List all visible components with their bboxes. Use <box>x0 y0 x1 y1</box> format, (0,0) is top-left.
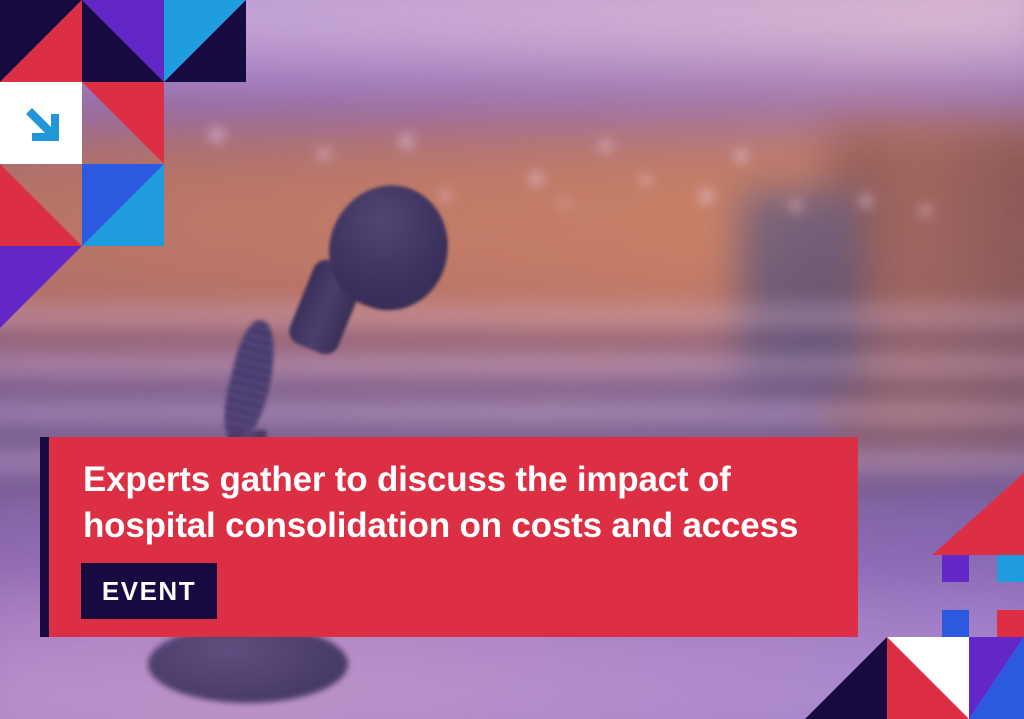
decor-cell-red-corner <box>887 473 1024 555</box>
decor-cell-red-corner <box>82 82 164 164</box>
decor-square-purple <box>942 555 969 582</box>
decor-cell-navy-corner <box>805 637 887 719</box>
status-badge[interactable]: EVENT <box>81 563 217 619</box>
decor-cell-purple-blue <box>969 637 1024 719</box>
triangle-navy <box>805 637 887 719</box>
decor-cell-blue-split <box>82 164 164 246</box>
triangle-red <box>887 473 1024 555</box>
decor-cell-navy-red <box>0 0 82 82</box>
decor-cell-purple-navy <box>82 0 164 82</box>
triangle-purple <box>0 246 82 328</box>
triangle-red <box>0 164 82 246</box>
triangle-red <box>82 82 164 164</box>
decor-square-blue <box>942 610 969 637</box>
decor-square-red <box>997 610 1024 637</box>
decor-cell-white-red <box>887 637 969 719</box>
decor-cell-purple-corner <box>0 246 82 328</box>
decor-cell-blue-navy <box>164 0 246 82</box>
logo-box[interactable] <box>0 82 82 164</box>
banner-left-edge <box>40 437 49 637</box>
event-promo-card: Experts gather to discuss the impact of … <box>0 0 1024 719</box>
title-banner: Experts gather to discuss the impact of … <box>40 437 858 637</box>
decor-cell-red-corner <box>0 164 82 246</box>
decor-square-light-blue <box>997 555 1024 582</box>
page-title: Experts gather to discuss the impact of … <box>83 457 838 549</box>
arrow-down-right-icon <box>18 100 64 146</box>
banner-body: Experts gather to discuss the impact of … <box>49 437 858 637</box>
